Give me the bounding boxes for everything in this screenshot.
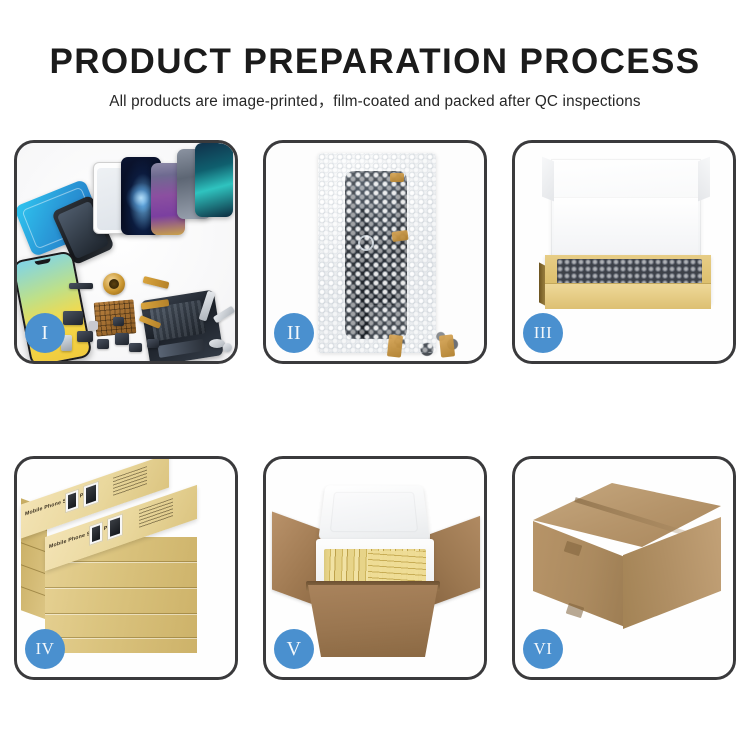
bubble-texture-back [318,153,436,353]
tape-strip-4 [439,334,455,357]
component-chip-10 [147,339,159,348]
step-badge-4: IV [25,629,65,669]
component-chip-1 [69,283,93,289]
box-art-screen-3 [89,521,103,546]
component-chip-7 [89,321,98,330]
box-art-screen-1 [65,489,79,514]
carton-body [308,585,438,657]
component-chip-4 [97,339,109,349]
bubble-wrap-bag [318,153,436,353]
repair-tool-4 [223,343,232,352]
header: PRODUCT PREPARATION PROCESS All products… [0,42,750,111]
kraft-box-front-panel [545,283,711,309]
step-badge-6: VI [523,629,563,669]
step-badge-2: II [274,313,314,353]
component-chip-6 [129,343,142,352]
carton-flap-right [430,516,480,606]
component-chip-9 [113,317,124,326]
box-art-screen-2 [83,481,99,509]
step-badge-1: I [25,313,65,353]
product-preparation-infographic: PRODUCT PREPARATION PROCESS All products… [0,0,750,750]
page-subtitle: All products are image-printed，film-coat… [0,89,750,111]
process-step-grid: I II [14,140,736,680]
white-foam-insert [554,197,698,257]
component-chip-3 [77,331,93,342]
component-chip-5 [115,333,129,345]
foam-box-lid [318,485,430,540]
teal-phone [195,143,233,217]
process-step-3: III [512,140,736,364]
process-step-5: V [263,456,487,680]
step-badge-5: V [274,629,314,669]
box-text-block-rear [113,466,147,498]
component-chip-2 [63,311,83,325]
process-step-2: II [263,140,487,364]
process-step-6: VI [512,456,736,680]
copper-coil-part [103,273,125,295]
flex-cable-1 [143,276,170,289]
tape-strip-3 [387,334,403,357]
box-art-screen-4 [107,513,123,541]
page-title: PRODUCT PREPARATION PROCESS [0,42,750,82]
step-badge-3: III [523,313,563,353]
tape-strip-1 [390,173,404,182]
box-text-block-front [139,498,173,530]
process-step-1: I [14,140,238,364]
process-step-4: Mobile Phone Spare Parts Mobile Phone Sp… [14,456,238,680]
